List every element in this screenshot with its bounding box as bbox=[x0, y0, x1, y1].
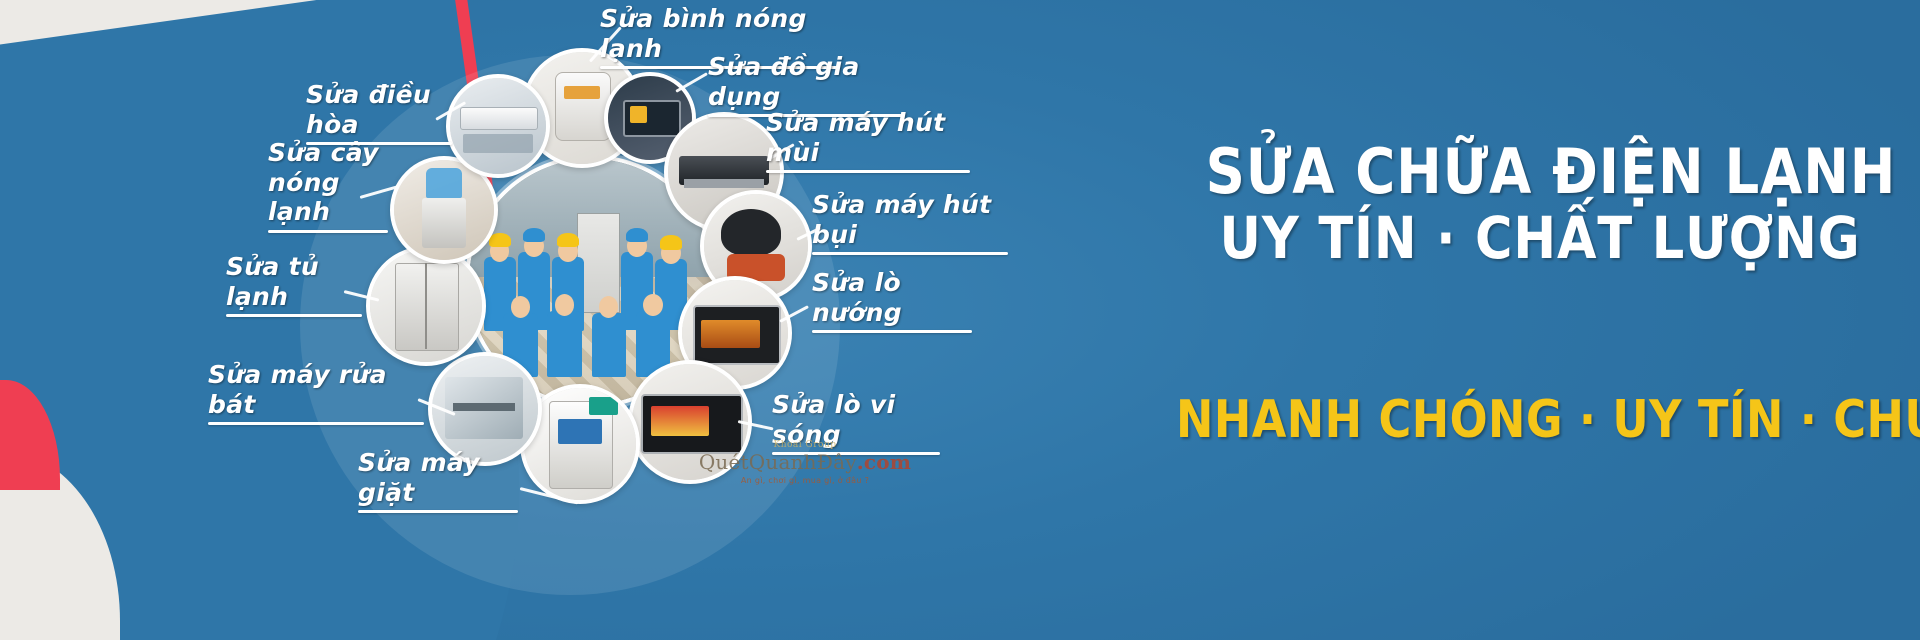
callout-label: Sửa lò nướng bbox=[812, 268, 972, 327]
watermark-brand-name: QuétQuanhĐây bbox=[699, 450, 857, 474]
callout-label: Sửa máy hút mùi bbox=[766, 108, 970, 167]
callout-underline bbox=[358, 510, 518, 513]
callout-tu-lanh: Sửa tủ lạnh bbox=[226, 252, 362, 317]
callout-underline bbox=[306, 142, 452, 145]
callout-label: Sửa cây nóng lạnh bbox=[268, 138, 388, 227]
callout-label: Sửa điều hòa bbox=[306, 80, 452, 139]
slogan-text: NHANH CHÓNG · UY TÍN · CHU ĐÁO bbox=[1176, 390, 1864, 450]
watermark-brand-domain: .com bbox=[857, 450, 911, 474]
banner-root: Sửa bình nóng lạnh Sửa đồ gia dụng Sửa m… bbox=[0, 0, 1920, 640]
headline-line-1: SỬA CHỮA ĐIỆN LẠNH bbox=[1206, 140, 1875, 203]
callout-lo-nuong: Sửa lò nướng bbox=[812, 268, 972, 333]
callout-cay-nong-lanh: Sửa cây nóng lạnh bbox=[268, 138, 388, 233]
callout-dieu-hoa: Sửa điều hòa bbox=[306, 80, 452, 145]
callout-may-hut-bui: Sửa máy hút bụi bbox=[812, 190, 1008, 255]
watermark-brand: QuétQuanhĐây.com bbox=[690, 450, 920, 474]
callout-underline bbox=[268, 230, 388, 233]
watermark-tagline: An gì, chơi gì, mua gì, ở đâu ? bbox=[690, 476, 920, 485]
callout-label: Sửa tủ lạnh bbox=[226, 252, 362, 311]
watermark-top-label: Khoai Group bbox=[690, 440, 920, 450]
bubble-dieu-hoa bbox=[446, 74, 550, 178]
callout-label: Sửa đồ gia dụng bbox=[708, 52, 904, 111]
callout-label: Sửa máy rửa bát bbox=[208, 360, 424, 419]
headline-block: SỬA CHỮA ĐIỆN LẠNH UY TÍN · CHẤT LƯỢNG bbox=[1160, 140, 1920, 268]
bubble-tu-lanh bbox=[366, 246, 486, 366]
callout-underline bbox=[208, 422, 424, 425]
callout-may-giat: Sửa máy giặt bbox=[358, 448, 518, 513]
callout-underline bbox=[812, 330, 972, 333]
callout-may-rua-bat: Sửa máy rửa bát bbox=[208, 360, 424, 425]
callout-underline bbox=[812, 252, 1008, 255]
callout-label: Sửa máy giặt bbox=[358, 448, 518, 507]
callout-label: Sửa máy hút bụi bbox=[812, 190, 1008, 249]
watermark: Khoai Group QuétQuanhĐây.com An gì, chơi… bbox=[690, 440, 920, 485]
callout-may-hut-mui: Sửa máy hút mùi bbox=[766, 108, 970, 173]
callout-underline bbox=[226, 314, 362, 317]
headline-line-2: UY TÍN · CHẤT LƯỢNG bbox=[1206, 209, 1875, 268]
callout-underline bbox=[766, 170, 970, 173]
